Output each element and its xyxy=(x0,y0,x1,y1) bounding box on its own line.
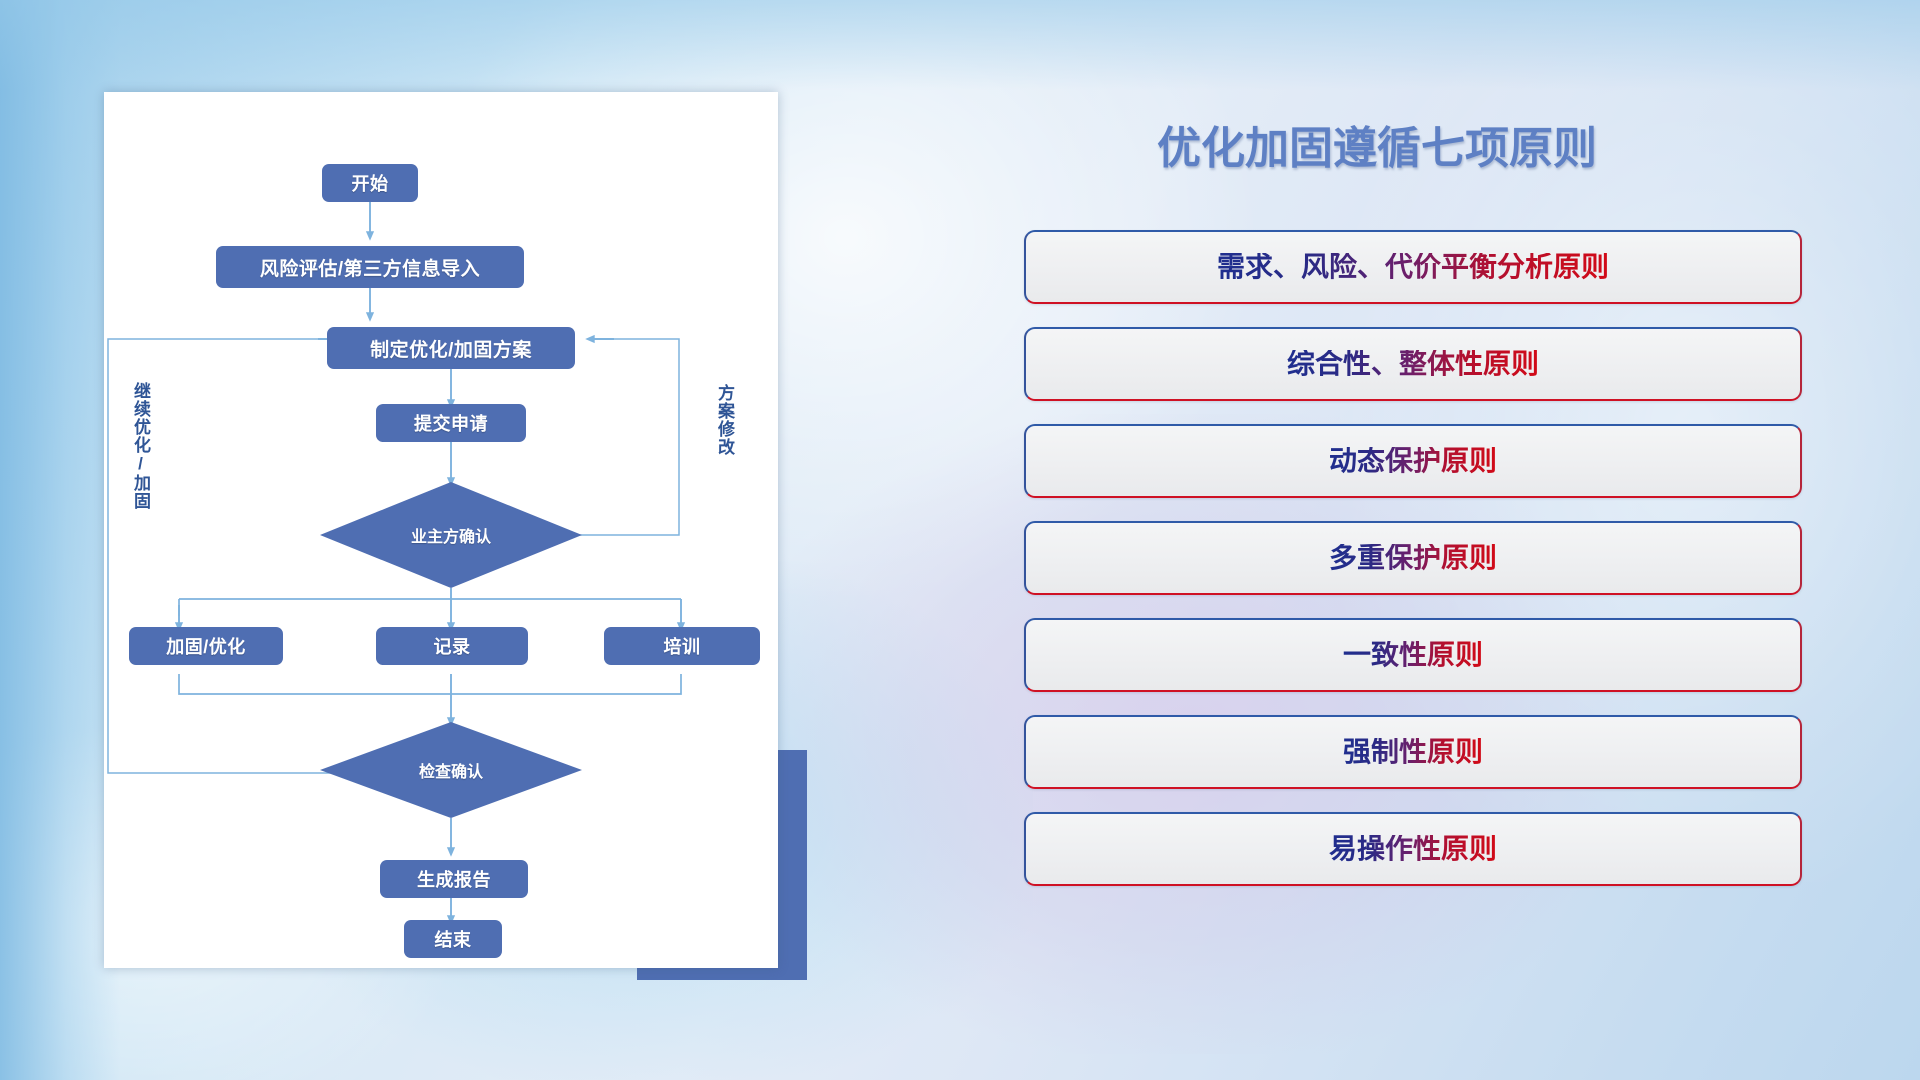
flow-decision-inspection-confirm[interactable]: 检查确认 xyxy=(320,722,582,818)
flowchart-panel: 开始 风险评估/第三方信息导入 制定优化/加固方案 提交申请 业主方确认 加固/… xyxy=(104,92,778,968)
flow-node-generate-report[interactable]: 生成报告 xyxy=(380,860,528,898)
slide-canvas: 开始 风险评估/第三方信息导入 制定优化/加固方案 提交申请 业主方确认 加固/… xyxy=(0,0,1920,1080)
flow-node-label: 结束 xyxy=(435,926,472,952)
edge-label-text: 方案修改 xyxy=(715,384,734,456)
principle-label: 动态保护原则 xyxy=(1329,447,1497,475)
principle-item[interactable]: 需求、风险、代价平衡分析原则 xyxy=(1024,230,1802,304)
flow-node-label: 业主方确认 xyxy=(411,523,491,547)
principle-label: 易操作性原则 xyxy=(1329,835,1497,863)
principle-label: 强制性原则 xyxy=(1343,738,1483,766)
principle-item[interactable]: 一致性原则 xyxy=(1024,618,1802,692)
flow-node-record[interactable]: 记录 xyxy=(376,627,528,665)
flow-node-label: 风险评估/第三方信息导入 xyxy=(260,254,480,281)
principle-label: 综合性、整体性原则 xyxy=(1287,350,1539,378)
flow-decision-owner-confirm[interactable]: 业主方确认 xyxy=(320,482,582,588)
flow-node-label: 检查确认 xyxy=(419,758,483,782)
flow-node-label: 生成报告 xyxy=(417,866,491,892)
flow-node-start[interactable]: 开始 xyxy=(322,164,418,202)
principle-item[interactable]: 动态保护原则 xyxy=(1024,424,1802,498)
flow-node-submit-application[interactable]: 提交申请 xyxy=(376,404,526,442)
background-edge-left xyxy=(0,0,120,1080)
page-title: 优化加固遵循七项原则 xyxy=(1157,112,1597,176)
principle-label: 需求、风险、代价平衡分析原则 xyxy=(1217,253,1609,281)
principle-label: 多重保护原则 xyxy=(1329,544,1497,572)
principle-item[interactable]: 强制性原则 xyxy=(1024,715,1802,789)
flow-node-training[interactable]: 培训 xyxy=(604,627,760,665)
flow-node-label: 培训 xyxy=(664,633,701,659)
flow-node-label: 提交申请 xyxy=(414,410,488,436)
flow-node-make-plan[interactable]: 制定优化/加固方案 xyxy=(327,327,575,369)
flow-edge-label-continue-optimize: 继续优化/加固 xyxy=(128,382,153,510)
principles-list: 需求、风险、代价平衡分析原则 综合性、整体性原则 动态保护原则 多重保护原则 一… xyxy=(1024,230,1802,886)
flow-edge-label-plan-revision: 方案修改 xyxy=(712,384,737,456)
flow-node-label: 制定优化/加固方案 xyxy=(370,335,532,362)
flow-node-risk-assessment[interactable]: 风险评估/第三方信息导入 xyxy=(216,246,524,288)
flow-node-label: 记录 xyxy=(434,633,471,659)
background-edge-top xyxy=(0,0,1920,90)
flow-node-label: 开始 xyxy=(352,170,389,196)
principle-item[interactable]: 多重保护原则 xyxy=(1024,521,1802,595)
principle-item[interactable]: 易操作性原则 xyxy=(1024,812,1802,886)
flow-node-reinforce-optimize[interactable]: 加固/优化 xyxy=(129,627,283,665)
edge-label-text: 继续优化/加固 xyxy=(131,382,150,510)
principle-label: 一致性原则 xyxy=(1343,641,1483,669)
flow-node-label: 加固/优化 xyxy=(166,633,246,659)
principle-item[interactable]: 综合性、整体性原则 xyxy=(1024,327,1802,401)
flow-node-end[interactable]: 结束 xyxy=(404,920,502,958)
